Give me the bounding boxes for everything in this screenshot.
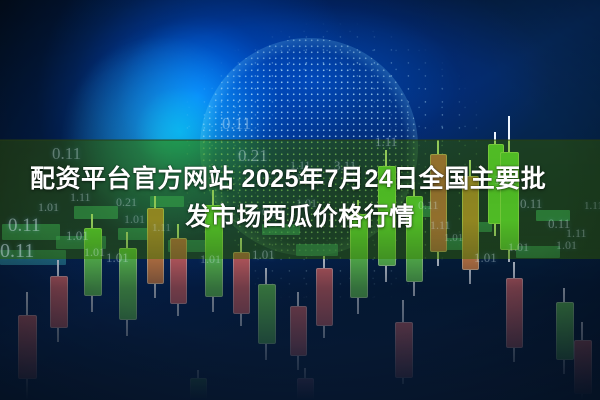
- vignette-overlay: [0, 0, 600, 400]
- banner-image: 0.110.110.111.011.011.111.010.211.011.01…: [0, 0, 600, 400]
